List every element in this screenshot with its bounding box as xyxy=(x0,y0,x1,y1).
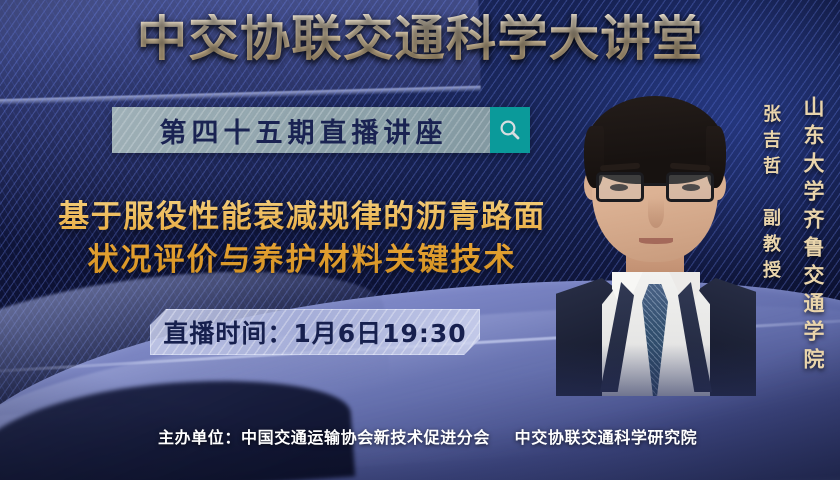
lens-right xyxy=(666,172,714,202)
search-icon xyxy=(498,118,522,142)
schedule-label: 直播时间：1月6日19:30 xyxy=(163,314,466,350)
glasses-bridge xyxy=(644,183,666,186)
organizer-footer: 主办单位：中国交通运输协会新技术促进分会 中交协联交通科学研究院 xyxy=(158,424,697,448)
episode-bar: 第四十五期直播讲座 xyxy=(112,107,530,153)
photo-bottom-fade xyxy=(556,344,756,396)
nose xyxy=(648,198,664,228)
episode-label: 第四十五期直播讲座 xyxy=(155,111,448,150)
promo-banner: 中交协联交通科学大讲堂 第四十五期直播讲座 基于服役性能衰减规律的沥青路面 状况… xyxy=(0,0,840,480)
speaker-name: 张吉哲 副教授 xyxy=(757,104,783,286)
episode-bar-body: 第四十五期直播讲座 xyxy=(112,107,490,153)
lens-left xyxy=(596,172,644,202)
lecture-title-line1: 基于服役性能衰减规律的沥青路面 xyxy=(22,196,582,239)
search-button[interactable] xyxy=(490,107,530,153)
page-title: 中交协联交通科学大讲堂 xyxy=(0,14,840,63)
lecture-title-line2: 状况评价与养护材料关键技术 xyxy=(22,239,582,282)
lecture-title: 基于服役性能衰减规律的沥青路面 状况评价与养护材料关键技术 xyxy=(22,196,582,282)
speaker-photo xyxy=(556,96,756,396)
schedule-badge: 直播时间：1月6日19:30 xyxy=(150,309,480,355)
mouth xyxy=(639,238,673,244)
speaker-organization: 山东大学齐鲁交通学院 xyxy=(798,96,828,376)
